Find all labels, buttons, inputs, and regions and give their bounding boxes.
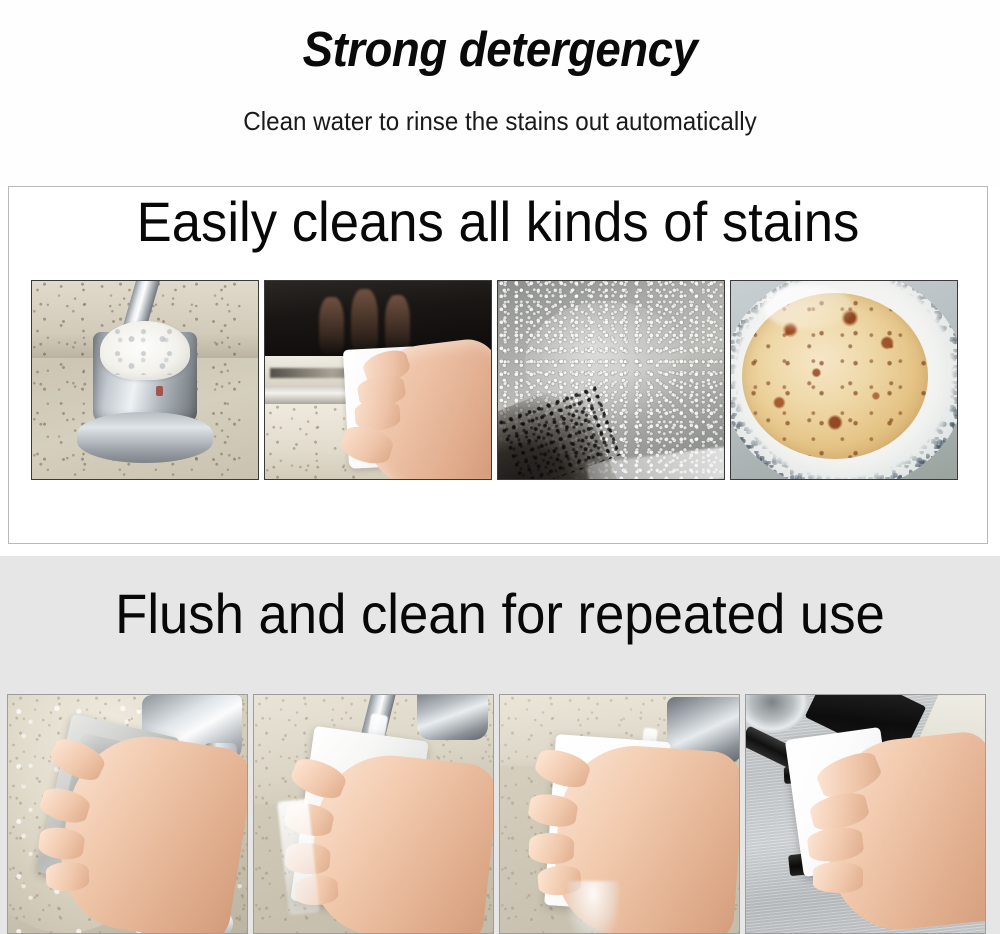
product-marketing-image: { "header": { "title": "Strong detergenc… bbox=[0, 0, 1000, 934]
page-subtitle: Clean water to rinse the stains out auto… bbox=[35, 108, 965, 134]
photo-row-reuse: Hand holding a dirty gray used sponge ov… bbox=[7, 694, 993, 934]
photo-sponge-on-stovetop: Clean white sponge wiping a stainless st… bbox=[745, 694, 986, 934]
section-reuse: Flush and clean for repeated use Hand ho… bbox=[0, 556, 1000, 934]
photo-sponge-on-appliance: Hand holding a white melamine sponge wip… bbox=[264, 280, 492, 480]
photo-dirty-plate: White plate with ornate blue filigree ri… bbox=[730, 280, 958, 480]
page-title: Strong detergency bbox=[35, 26, 965, 75]
section-stains: Easily cleans all kinds of stains Chrome… bbox=[8, 186, 988, 544]
header-block: Strong detergency Clean water to rinse t… bbox=[0, 0, 1000, 186]
photo-row-stains: Chrome faucet base covered with white li… bbox=[31, 280, 969, 480]
photo-dirty-sponge-in-hand: Hand holding a dirty gray used sponge ov… bbox=[7, 694, 248, 934]
photo-rinsing-sponge: Sponge being rinsed under a running tap,… bbox=[253, 694, 494, 934]
photo-waterspot-macro: Close-up macro of a gray surface covered… bbox=[497, 280, 725, 480]
section-heading-stains: Easily cleans all kinds of stains bbox=[38, 194, 957, 250]
photo-faucet-limescale: Chrome faucet base covered with white li… bbox=[31, 280, 259, 480]
section-heading-reuse: Flush and clean for repeated use bbox=[30, 586, 970, 642]
photo-clean-sponge: Fully clean white sponge held under the … bbox=[499, 694, 740, 934]
